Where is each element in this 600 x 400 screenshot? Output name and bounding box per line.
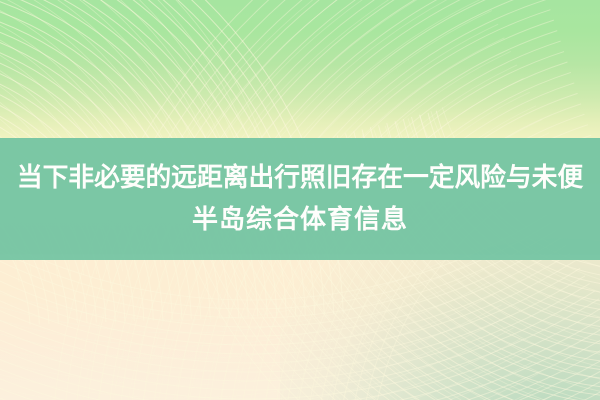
headline-line-2: 半岛综合体育信息 <box>192 207 408 233</box>
headline-line-1: 当下非必要的远距离出行照旧存在一定风险与未便 <box>17 165 583 191</box>
headline-band: 当下非必要的远距离出行照旧存在一定风险与未便 半岛综合体育信息 <box>0 138 600 260</box>
promo-banner: 当下非必要的远距离出行照旧存在一定风险与未便 半岛综合体育信息 <box>0 0 600 400</box>
